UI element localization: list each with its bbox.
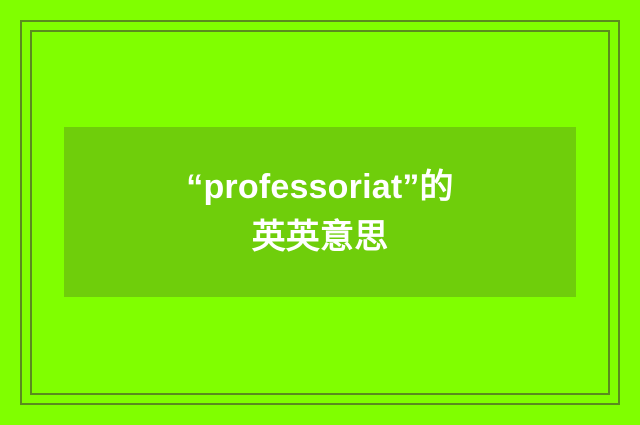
- headline-text: “professoriat”的英英意思: [156, 162, 484, 263]
- headline-panel: “professoriat”的英英意思: [64, 127, 576, 297]
- poster-canvas: “professoriat”的英英意思: [0, 0, 640, 425]
